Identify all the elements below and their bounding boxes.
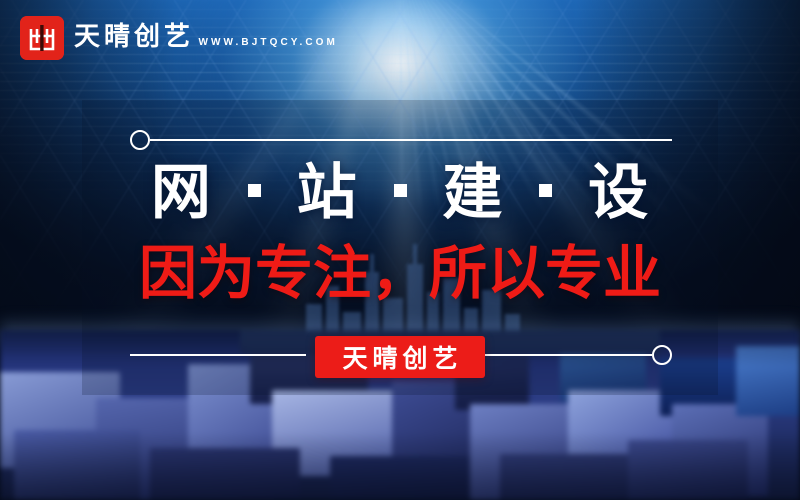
headline-char-1: 网	[151, 158, 212, 228]
divider-line-bottom-right	[476, 354, 652, 356]
headline-char-4: 设	[588, 158, 649, 228]
headline-char-2: 站	[297, 158, 358, 228]
headline-char-3: 建	[442, 158, 503, 228]
site-logo[interactable]: 天晴创艺 WWW.BJTQCY.COM	[20, 16, 338, 60]
square-separator-icon	[248, 184, 261, 197]
divider-line-top	[150, 139, 672, 141]
page-subtitle: 因为专注，所以专业	[0, 244, 800, 302]
divider-top	[130, 129, 672, 151]
square-separator-icon	[394, 184, 407, 197]
tianqing-logo-mark-icon	[20, 16, 64, 60]
circle-marker-left-icon	[130, 130, 150, 150]
promo-banner: 网 站 建 设 因为专注，所以专业 天晴创艺 天晴创艺 WW	[0, 0, 800, 500]
circle-marker-right-icon	[652, 345, 672, 365]
divider-line-bottom-left	[130, 354, 306, 356]
page-title: 网 站 建 设	[0, 163, 800, 223]
logo-text-block: 天晴创艺 WWW.BJTQCY.COM	[74, 24, 338, 51]
brand-badge: 天晴创艺	[315, 336, 485, 378]
logo-company-name: 天晴创艺	[74, 22, 194, 52]
square-separator-icon	[539, 184, 552, 197]
logo-website-url: WWW.BJTQCY.COM	[198, 37, 338, 48]
